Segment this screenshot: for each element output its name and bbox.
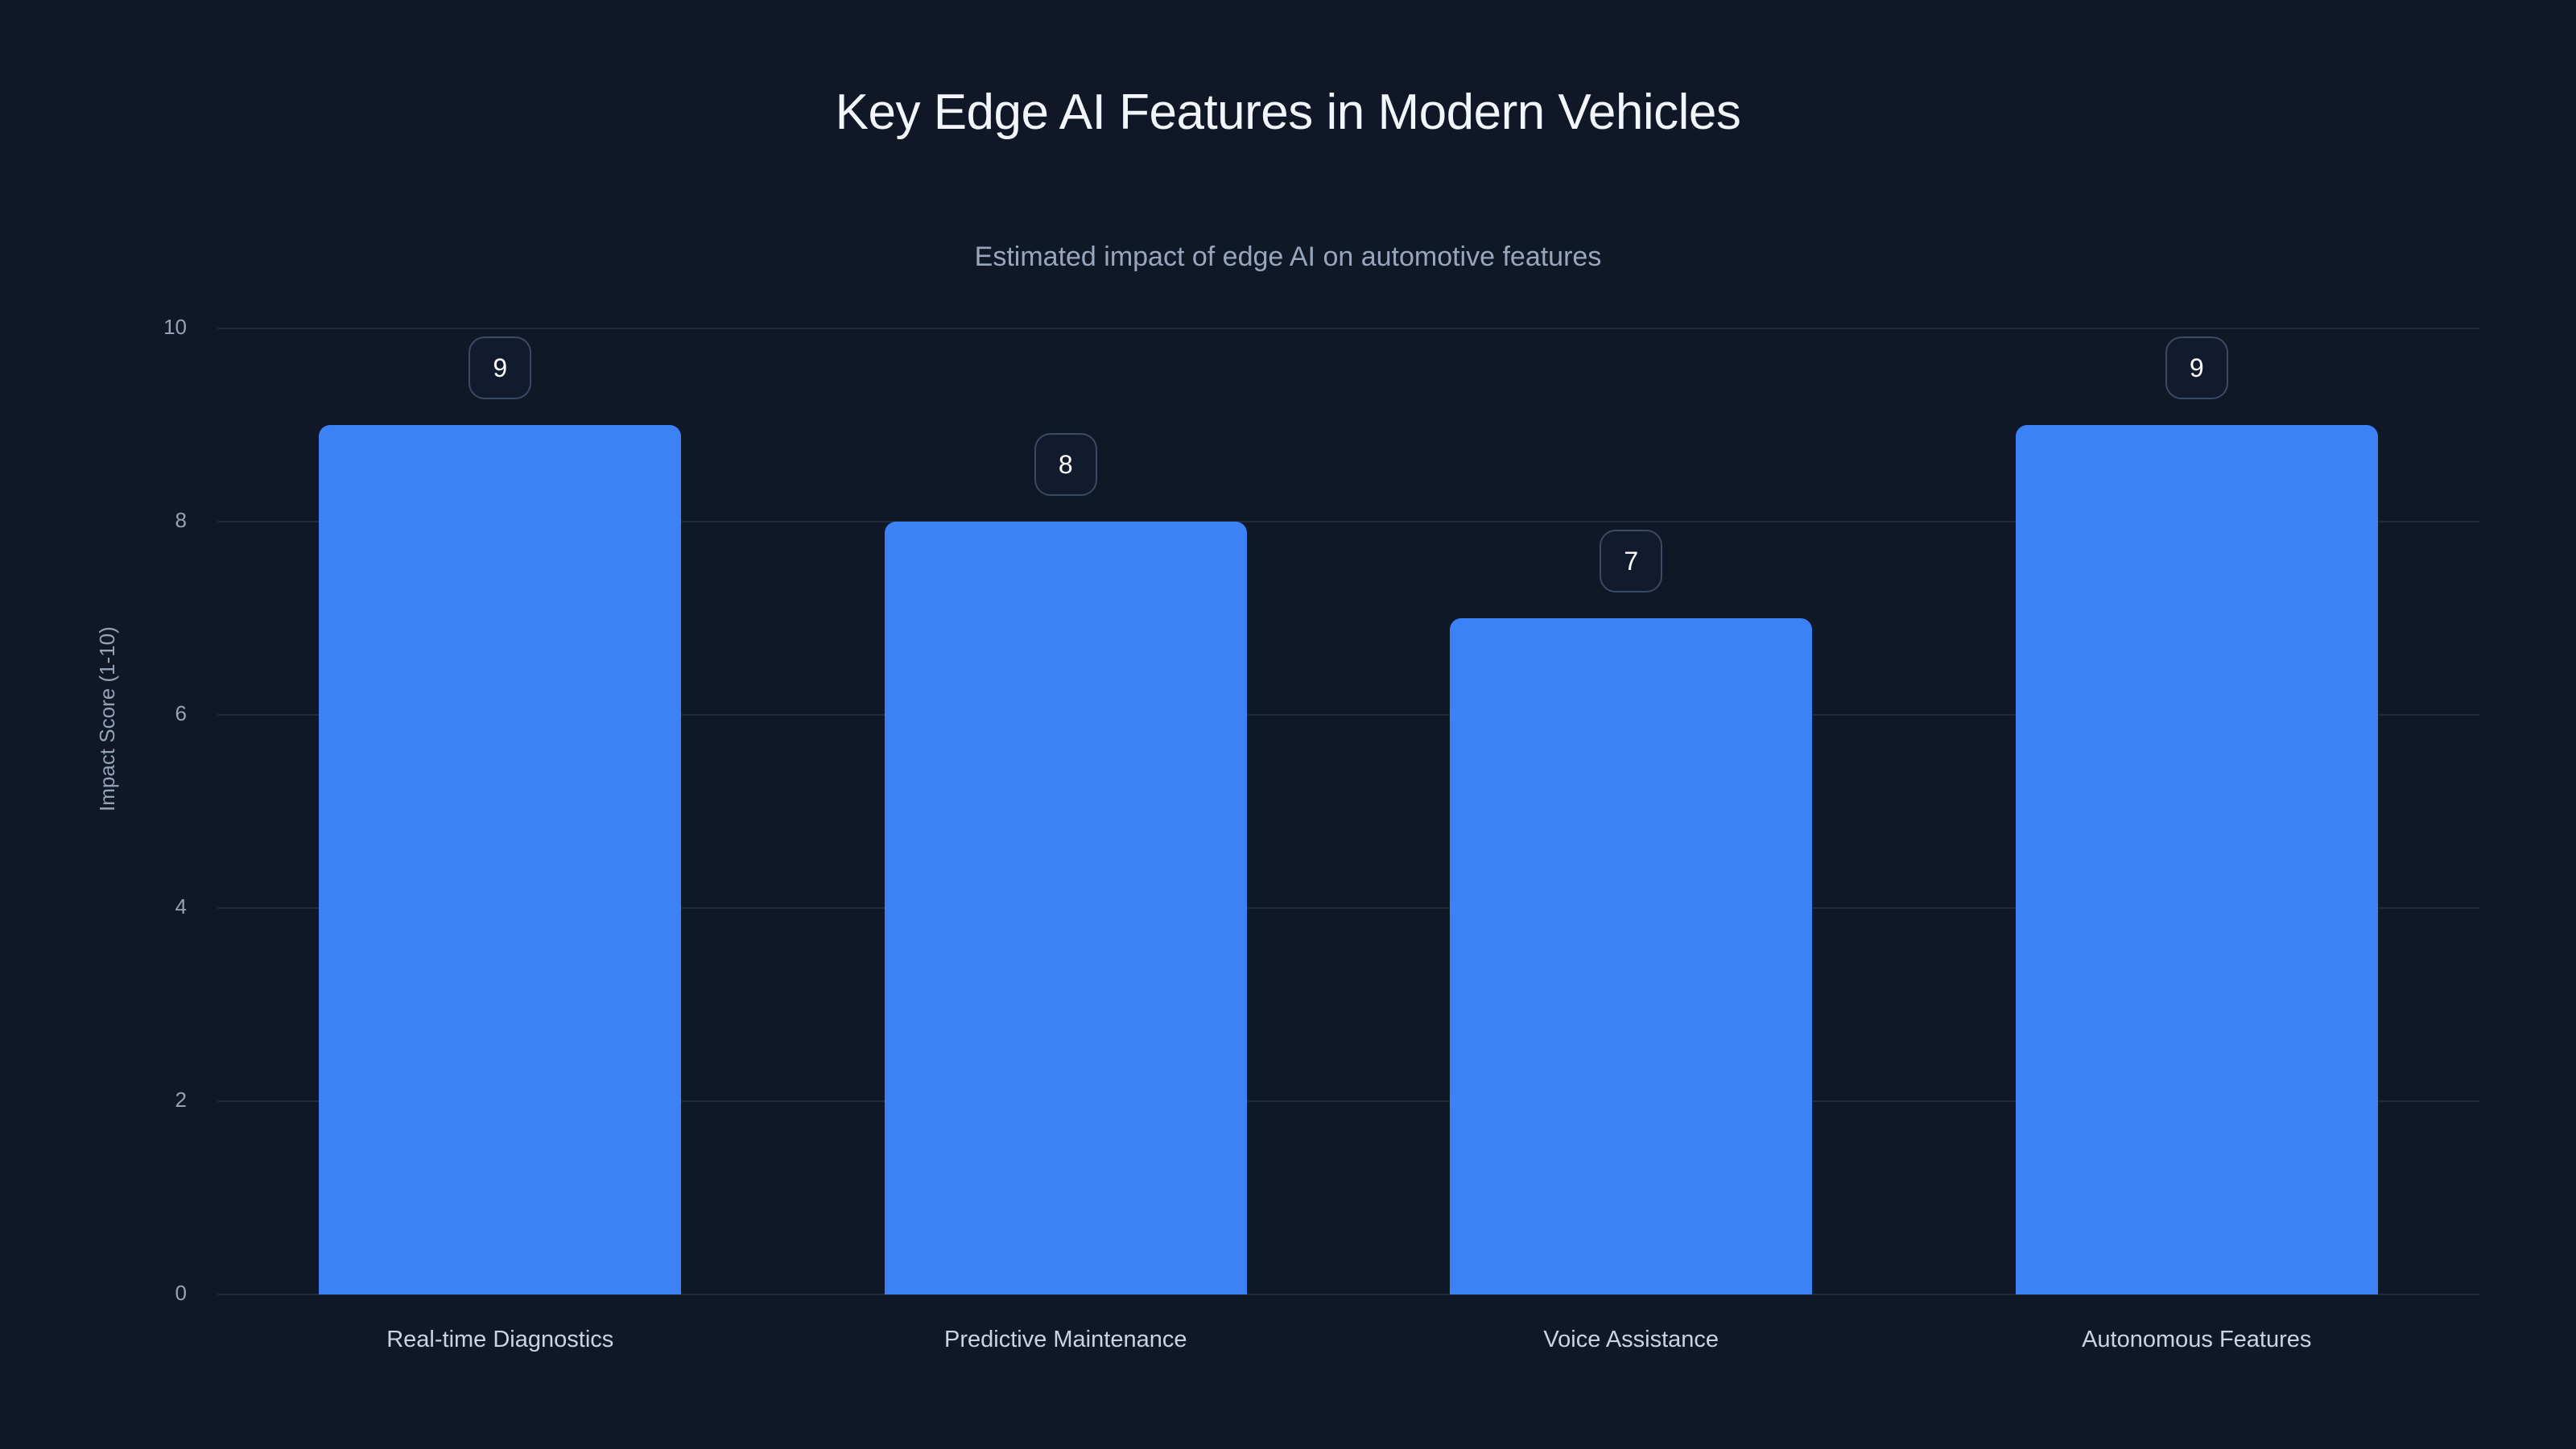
x-tick-label: Autonomous Features [1914,1327,2480,1353]
bar-chart-canvas: Key Edge AI Features in Modern Vehicles … [0,0,2576,1449]
bar-value-badge: 9 [2165,336,2228,399]
y-tick-label: 6 [0,701,187,726]
chart-subtitle: Estimated impact of edge AI on automotiv… [0,242,2576,273]
bar-value-badge: 7 [1600,530,1662,592]
chart-title: Key Edge AI Features in Modern Vehicles [0,84,2576,141]
bar-value-badge: 9 [469,336,531,399]
y-tick-label: 2 [0,1088,187,1113]
y-tick-label: 10 [0,315,187,340]
x-tick-label: Real-time Diagnostics [217,1327,783,1353]
bar[interactable] [1450,618,1812,1294]
bar-value-badge: 8 [1034,433,1097,496]
bar[interactable] [885,522,1247,1294]
y-tick-label: 4 [0,894,187,919]
x-tick-label: Predictive Maintenance [783,1327,1349,1353]
bar[interactable] [319,425,681,1294]
x-tick-label: Voice Assistance [1348,1327,1914,1353]
gridline [217,328,2479,329]
y-tick-label: 0 [0,1281,187,1306]
plot-area [217,328,2479,1294]
y-tick-label: 8 [0,508,187,533]
bar[interactable] [2016,425,2378,1294]
